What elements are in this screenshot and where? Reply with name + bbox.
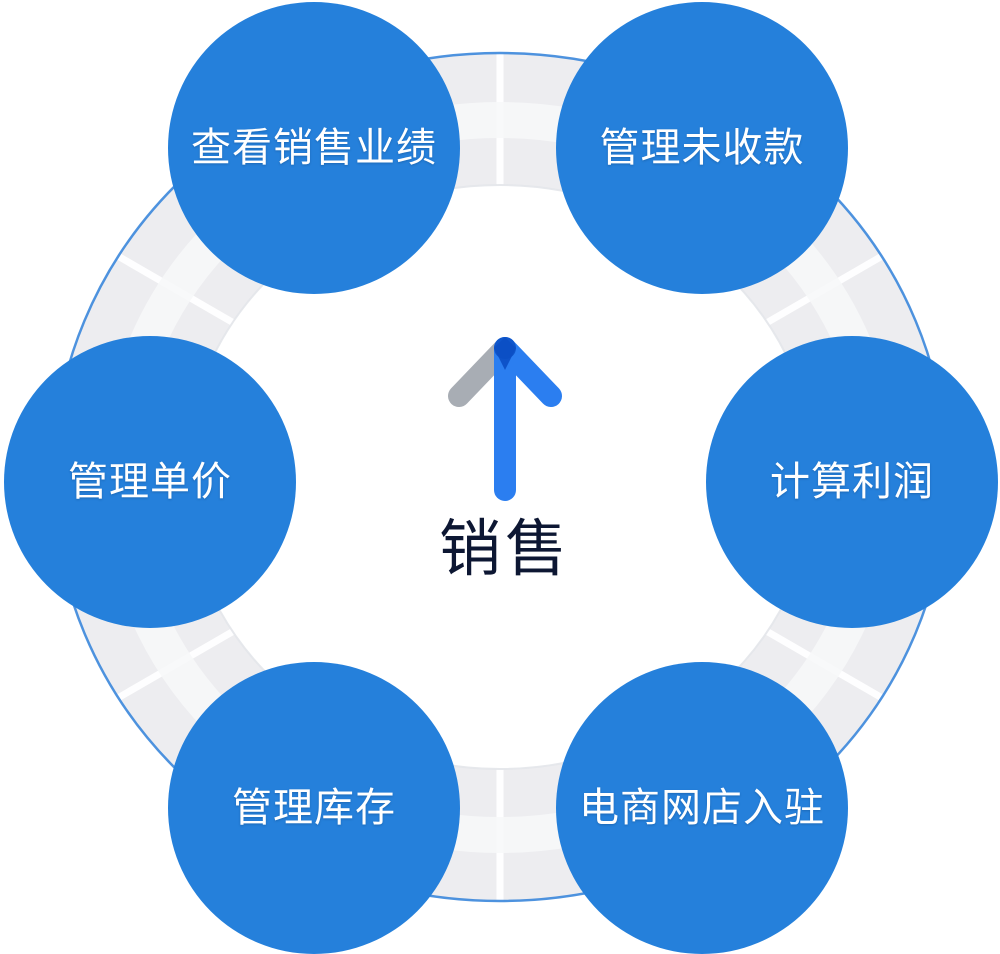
up-arrow-icon [445, 330, 565, 505]
node-ecommerce-store-onboarding[interactable]: 电商网店入驻 [556, 662, 848, 954]
center-hub: 销售 [390, 330, 620, 620]
node-view-sales-performance[interactable]: 查看销售业绩 [168, 2, 460, 294]
node-label: 查看销售业绩 [191, 128, 437, 168]
center-label: 销售 [439, 519, 571, 581]
node-manage-unit-price[interactable]: 管理单价 [4, 336, 296, 628]
node-manage-receivables[interactable]: 管理未收款 [556, 2, 848, 294]
node-label: 管理未收款 [600, 128, 805, 168]
node-label: 管理单价 [68, 462, 232, 502]
node-label: 管理库存 [232, 788, 396, 828]
node-label: 电商网店入驻 [579, 788, 825, 828]
node-manage-inventory[interactable]: 管理库存 [168, 662, 460, 954]
arrow-apex-cap [494, 337, 516, 359]
node-calculate-profit[interactable]: 计算利润 [706, 336, 998, 628]
node-label: 计算利润 [770, 462, 934, 502]
diagram-canvas: 查看销售业绩 管理未收款 计算利润 电商网店入驻 管理库存 管理单价 销售 [0, 0, 1000, 954]
